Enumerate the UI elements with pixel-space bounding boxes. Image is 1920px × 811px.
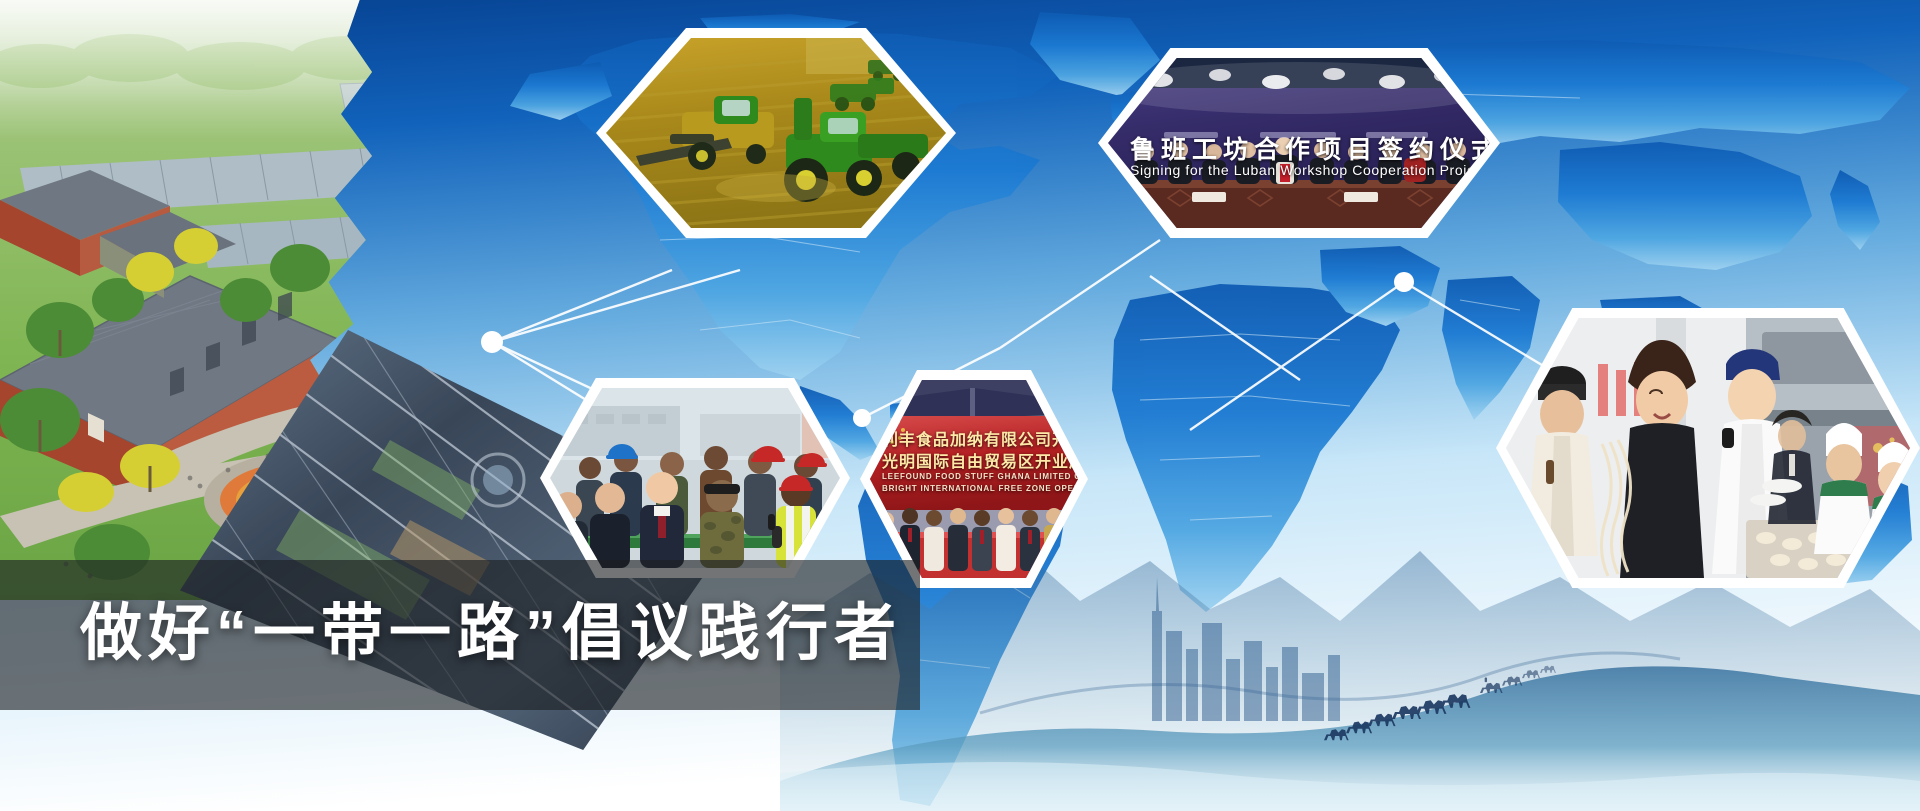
- site-visit-photo: [550, 388, 840, 568]
- site-visit-hardhats-hexagon[interactable]: [540, 378, 850, 578]
- culinary-photo: [1506, 318, 1910, 578]
- ghana-photo: 利丰食品加纳有限公司开业 光明国际自由贸易区开业庆典 LEEFOUND FOOD…: [870, 380, 1078, 578]
- culinary-exchange-hexagon[interactable]: [1496, 308, 1920, 588]
- agriculture-photo: [606, 38, 946, 228]
- luban-photo: 鲁班工坊合作项目签约仪式 Signing for the Luban Works…: [1108, 58, 1490, 228]
- banner-stage: 鲁班工坊合作项目签约仪式 Signing for the Luban Works…: [0, 0, 1920, 811]
- page-title: 做好“一带一路”倡议践行者: [80, 582, 940, 686]
- luban-workshop-signing-hexagon[interactable]: 鲁班工坊合作项目签约仪式 Signing for the Luban Works…: [1098, 48, 1500, 238]
